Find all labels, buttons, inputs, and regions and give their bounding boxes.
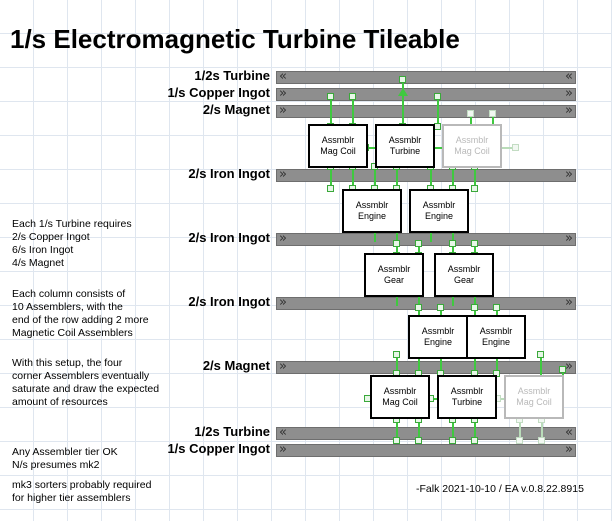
assembler-line2: Engine	[424, 337, 452, 348]
note-sorters: mk3 sorters probably required for higher…	[12, 479, 151, 505]
note-requirements: Each 1/s Turbine requires 2/s Copper Ing…	[12, 218, 132, 270]
belt-arrows-right-5: »	[565, 296, 573, 309]
sorter-node	[393, 351, 400, 358]
page-title: 1/s Electromagnetic Turbine Tileable	[10, 24, 460, 55]
assembler-box[interactable]: Assmblr Engine	[466, 315, 526, 359]
sorter-node	[415, 304, 422, 311]
assembler-line1: Assmblr	[456, 135, 489, 146]
diagram-stage: 1/s Electromagnetic Turbine Tileable 1/2…	[0, 0, 612, 521]
belt-arrows-left-5: »	[279, 296, 287, 309]
belt-5[interactable]: » »	[276, 297, 576, 310]
note-tier: Any Assembler tier OK N/s presumes mk2	[12, 446, 118, 472]
belt-arrows-left-2: »	[279, 104, 287, 117]
assembler-line1: Assmblr	[448, 264, 481, 275]
belt-7[interactable]: « «	[276, 427, 576, 440]
belt-arrows-right-3: »	[565, 168, 573, 181]
sorter-node-ghost	[512, 144, 519, 151]
assembler-box[interactable]: Assmblr Mag Coil	[308, 124, 368, 168]
assembler-line1: Assmblr	[423, 200, 456, 211]
sorter-node-ghost	[467, 110, 474, 117]
note-columns: Each column consists of 10 Assemblers, w…	[12, 288, 149, 340]
belt-3[interactable]: » »	[276, 169, 576, 182]
belt-1[interactable]: » »	[276, 88, 576, 101]
assembler-line2: Gear	[384, 275, 404, 286]
assembler-line2: Mag Coil	[516, 397, 552, 408]
assembler-box-ghost[interactable]: Assmblr Mag Coil	[504, 375, 564, 419]
sorter-node	[399, 76, 406, 83]
belt-0[interactable]: « «	[276, 71, 576, 84]
assembler-box[interactable]: Assmblr Engine	[342, 189, 402, 233]
assembler-line1: Assmblr	[480, 326, 513, 337]
belt-6[interactable]: » »	[276, 361, 576, 374]
belt-arrows-left-8: »	[279, 443, 287, 456]
belt-arrows-left-7: «	[279, 426, 287, 439]
belt-label-2: 2/s Magnet	[100, 102, 270, 117]
assembler-line2: Gear	[454, 275, 474, 286]
sorter-node	[393, 437, 400, 444]
sorter-node	[415, 437, 422, 444]
belt-arrows-right-7: «	[565, 426, 573, 439]
assembler-line1: Assmblr	[384, 386, 417, 397]
sorter-node	[471, 437, 478, 444]
credit-text: -Falk 2021-10-10 / EA v.0.8.22.8915	[416, 483, 584, 495]
assembler-line2: Mag Coil	[320, 146, 356, 157]
belt-arrows-left-6: »	[279, 360, 287, 373]
assembler-line2: Turbine	[390, 146, 420, 157]
belt-2[interactable]: » »	[276, 105, 576, 118]
assembler-box[interactable]: Assmblr Turbine	[437, 375, 497, 419]
sorter-node	[537, 351, 544, 358]
belt-arrows-right-0: «	[565, 70, 573, 83]
belt-label-1: 1/s Copper Ingot	[100, 85, 270, 100]
assembler-box[interactable]: Assmblr Gear	[434, 253, 494, 297]
sorter-node	[349, 93, 356, 100]
sorter-node	[415, 240, 422, 247]
sorter-node	[559, 366, 566, 373]
belt-arrows-left-0: «	[279, 70, 287, 83]
belt-arrows-right-6: »	[565, 360, 573, 373]
note-saturation: With this setup, the four corner Assembl…	[12, 357, 159, 409]
assembler-line1: Assmblr	[422, 326, 455, 337]
assembler-box[interactable]: Assmblr Turbine	[375, 124, 435, 168]
belt-8[interactable]: » »	[276, 444, 576, 457]
sorter-node	[493, 304, 500, 311]
assembler-line2: Mag Coil	[382, 397, 418, 408]
sorter-line	[402, 78, 404, 127]
sorter-node	[393, 240, 400, 247]
assembler-line2: Engine	[358, 211, 386, 222]
assembler-line2: Mag Coil	[454, 146, 490, 157]
assembler-line2: Engine	[425, 211, 453, 222]
belt-arrows-left-4: »	[279, 232, 287, 245]
sorter-node	[434, 123, 441, 130]
sorter-node-ghost	[516, 437, 523, 444]
assembler-line2: Engine	[482, 337, 510, 348]
sorter-node-ghost	[489, 110, 496, 117]
assembler-box[interactable]: Assmblr Engine	[409, 189, 469, 233]
belt-arrows-left-3: »	[279, 168, 287, 181]
flow-arrow-icon	[398, 88, 408, 96]
sorter-node	[449, 240, 456, 247]
belt-arrows-left-1: »	[279, 87, 287, 100]
assembler-box-ghost[interactable]: Assmblr Mag Coil	[442, 124, 502, 168]
assembler-line1: Assmblr	[389, 135, 422, 146]
assembler-line1: Assmblr	[322, 135, 355, 146]
belt-label-0: 1/2s Turbine	[100, 68, 270, 83]
assembler-line1: Assmblr	[518, 386, 551, 397]
belt-4[interactable]: » »	[276, 233, 576, 246]
sorter-node	[437, 304, 444, 311]
belt-label-7: 1/2s Turbine	[100, 424, 270, 439]
sorter-node	[471, 240, 478, 247]
belt-arrows-right-8: »	[565, 443, 573, 456]
assembler-line1: Assmblr	[378, 264, 411, 275]
belt-arrows-right-4: »	[565, 232, 573, 245]
sorter-node	[471, 304, 478, 311]
assembler-line2: Turbine	[452, 397, 482, 408]
sorter-node	[327, 93, 334, 100]
belt-arrows-right-2: »	[565, 104, 573, 117]
sorter-node	[471, 185, 478, 192]
sorter-node	[434, 93, 441, 100]
assembler-box[interactable]: Assmblr Mag Coil	[370, 375, 430, 419]
assembler-box[interactable]: Assmblr Gear	[364, 253, 424, 297]
assembler-line1: Assmblr	[356, 200, 389, 211]
assembler-line1: Assmblr	[451, 386, 484, 397]
belt-arrows-right-1: »	[565, 87, 573, 100]
sorter-node	[327, 185, 334, 192]
sorter-node	[449, 437, 456, 444]
sorter-node-ghost	[538, 437, 545, 444]
belt-label-8: 1/s Copper Ingot	[100, 441, 270, 456]
assembler-box[interactable]: Assmblr Engine	[408, 315, 468, 359]
belt-label-3: 2/s Iron Ingot	[100, 166, 270, 181]
